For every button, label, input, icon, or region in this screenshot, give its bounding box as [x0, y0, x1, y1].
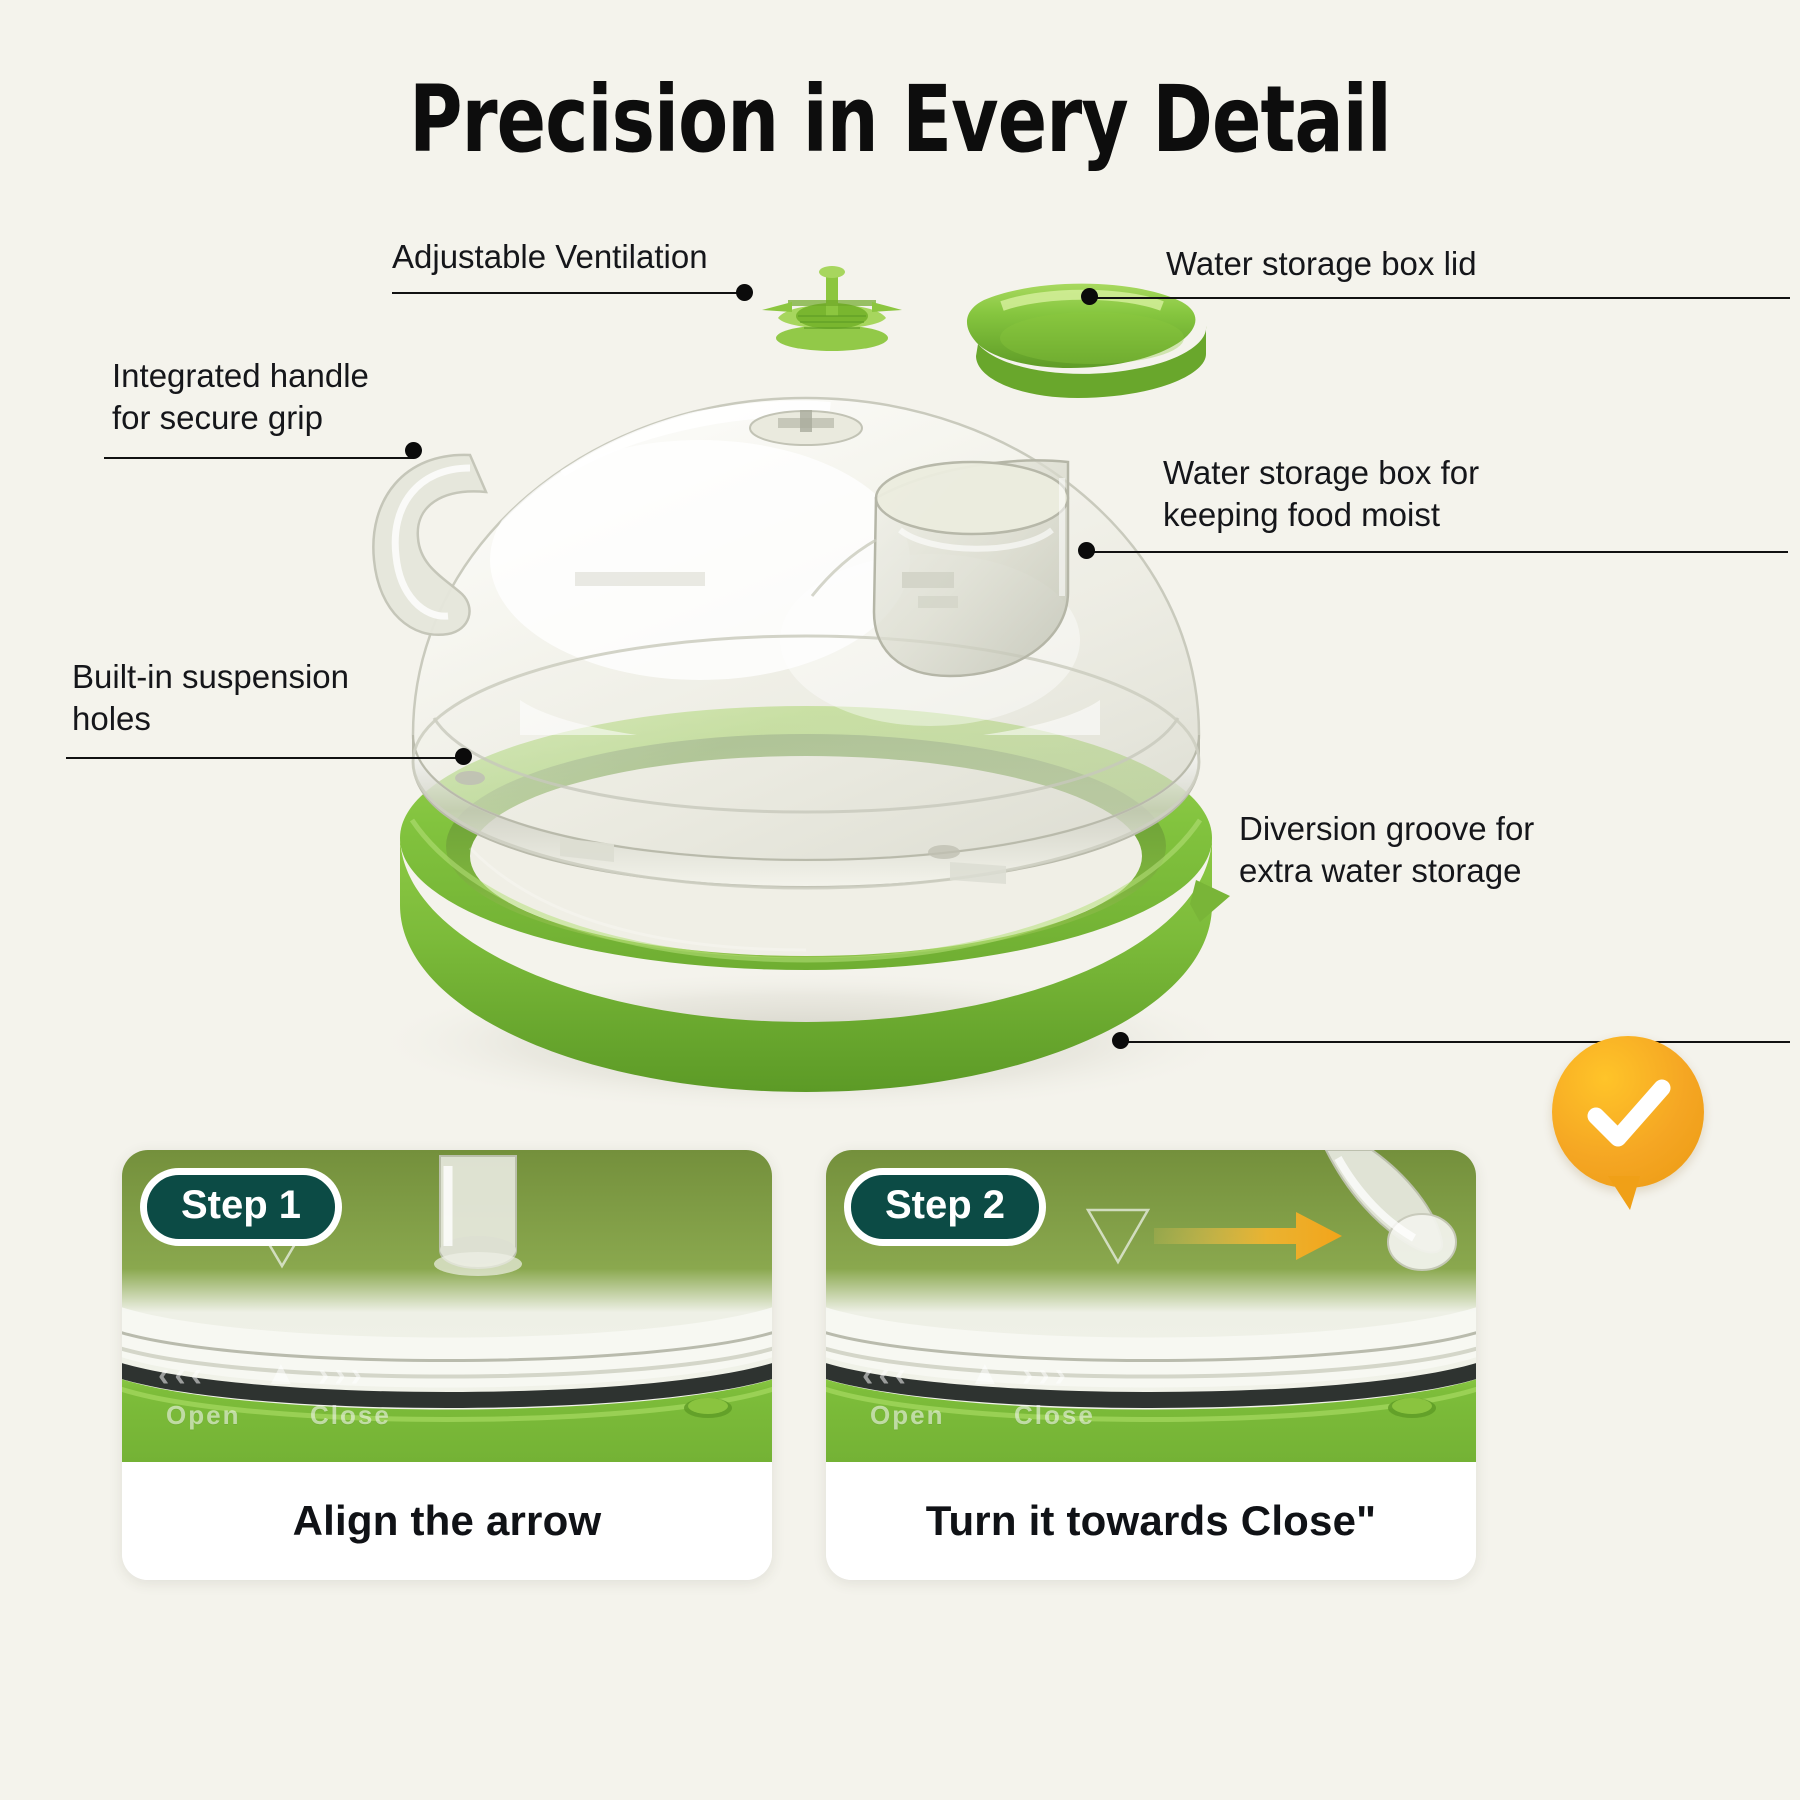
step-1-badge: Step 1 [140, 1168, 342, 1246]
callout-suspension-holes: Built-in suspension holes [72, 656, 349, 740]
page-title: Precision in Every Detail [108, 66, 1692, 173]
callout-label-line2: for secure grip [112, 397, 369, 439]
leader-dot-suspension-holes [455, 748, 472, 765]
water-storage-box [812, 461, 1068, 677]
step-panel-2[interactable]: ‹‹‹ ▲ ››› Open Close Step 2 Turn it towa… [826, 1150, 1476, 1580]
check-seal-badge [1552, 1036, 1704, 1188]
step-2-badge: Step 2 [844, 1168, 1046, 1246]
leader-dot-diversion-groove [1112, 1032, 1129, 1049]
step-2-open-label: Open [870, 1400, 944, 1431]
callout-adjustable-ventilation: Adjustable Ventilation [392, 236, 708, 278]
check-icon [1552, 1036, 1704, 1188]
leader-line-integrated-handle [104, 457, 414, 459]
leader-line-adjustable-ventilation [392, 292, 744, 294]
step-2-right-chevrons: ››› [1022, 1356, 1071, 1395]
step-2-caption: Turn it towards Close" [826, 1462, 1476, 1580]
callout-label-line1: Water storage box for [1163, 452, 1479, 494]
leader-line-water-storage-box [1088, 551, 1788, 553]
callout-integrated-handle: Integrated handle for secure grip [112, 355, 369, 439]
callout-label: Adjustable Ventilation [392, 236, 708, 278]
step-1-open-label: Open [166, 1400, 240, 1431]
step-1-marker: ▲ [264, 1354, 303, 1393]
step-panel-1[interactable]: ‹‹‹ ▲ ››› Open Close Step 1 Align the ar… [122, 1150, 772, 1580]
callout-water-storage-box: Water storage box for keeping food moist [1163, 452, 1479, 536]
callout-label: Water storage box lid [1166, 243, 1477, 285]
step-1-right-chevrons: ››› [318, 1356, 367, 1395]
callout-label-line1: Diversion groove for [1239, 808, 1534, 850]
callout-label-line1: Built-in suspension [72, 656, 349, 698]
leader-dot-integrated-handle [405, 442, 422, 459]
callout-label-line2: holes [72, 698, 349, 740]
callout-label-line1: Integrated handle [112, 355, 369, 397]
step-2-marker: ▲ [968, 1354, 1007, 1393]
integrated-handle [373, 455, 486, 635]
adjustable-ventilation-knob [762, 266, 902, 351]
transparent-dome-cover [413, 398, 1199, 888]
step-2-left-chevrons: ‹‹‹ [862, 1356, 911, 1395]
callout-label-line2: keeping food moist [1163, 494, 1479, 536]
step-1-close-label: Close [310, 1400, 391, 1431]
leader-dot-water-storage-box [1078, 542, 1095, 559]
step-1-left-chevrons: ‹‹‹ [158, 1356, 207, 1395]
step-1-caption: Align the arrow [122, 1462, 772, 1580]
infographic-stage: Precision in Every Detail [0, 0, 1800, 1800]
leader-line-suspension-holes [66, 757, 464, 759]
leader-dot-water-storage-box-lid [1081, 288, 1098, 305]
green-base-ring [400, 706, 1230, 1092]
callout-diversion-groove: Diversion groove for extra water storage [1239, 808, 1534, 892]
callout-water-storage-box-lid: Water storage box lid [1166, 243, 1477, 285]
callout-label-line2: extra water storage [1239, 850, 1534, 892]
step-2-close-label: Close [1014, 1400, 1095, 1431]
product-illustration [0, 0, 1800, 1160]
vent-knob-on-dome [750, 410, 862, 445]
leader-line-water-storage-box-lid [1090, 297, 1790, 299]
leader-dot-adjustable-ventilation [736, 284, 753, 301]
